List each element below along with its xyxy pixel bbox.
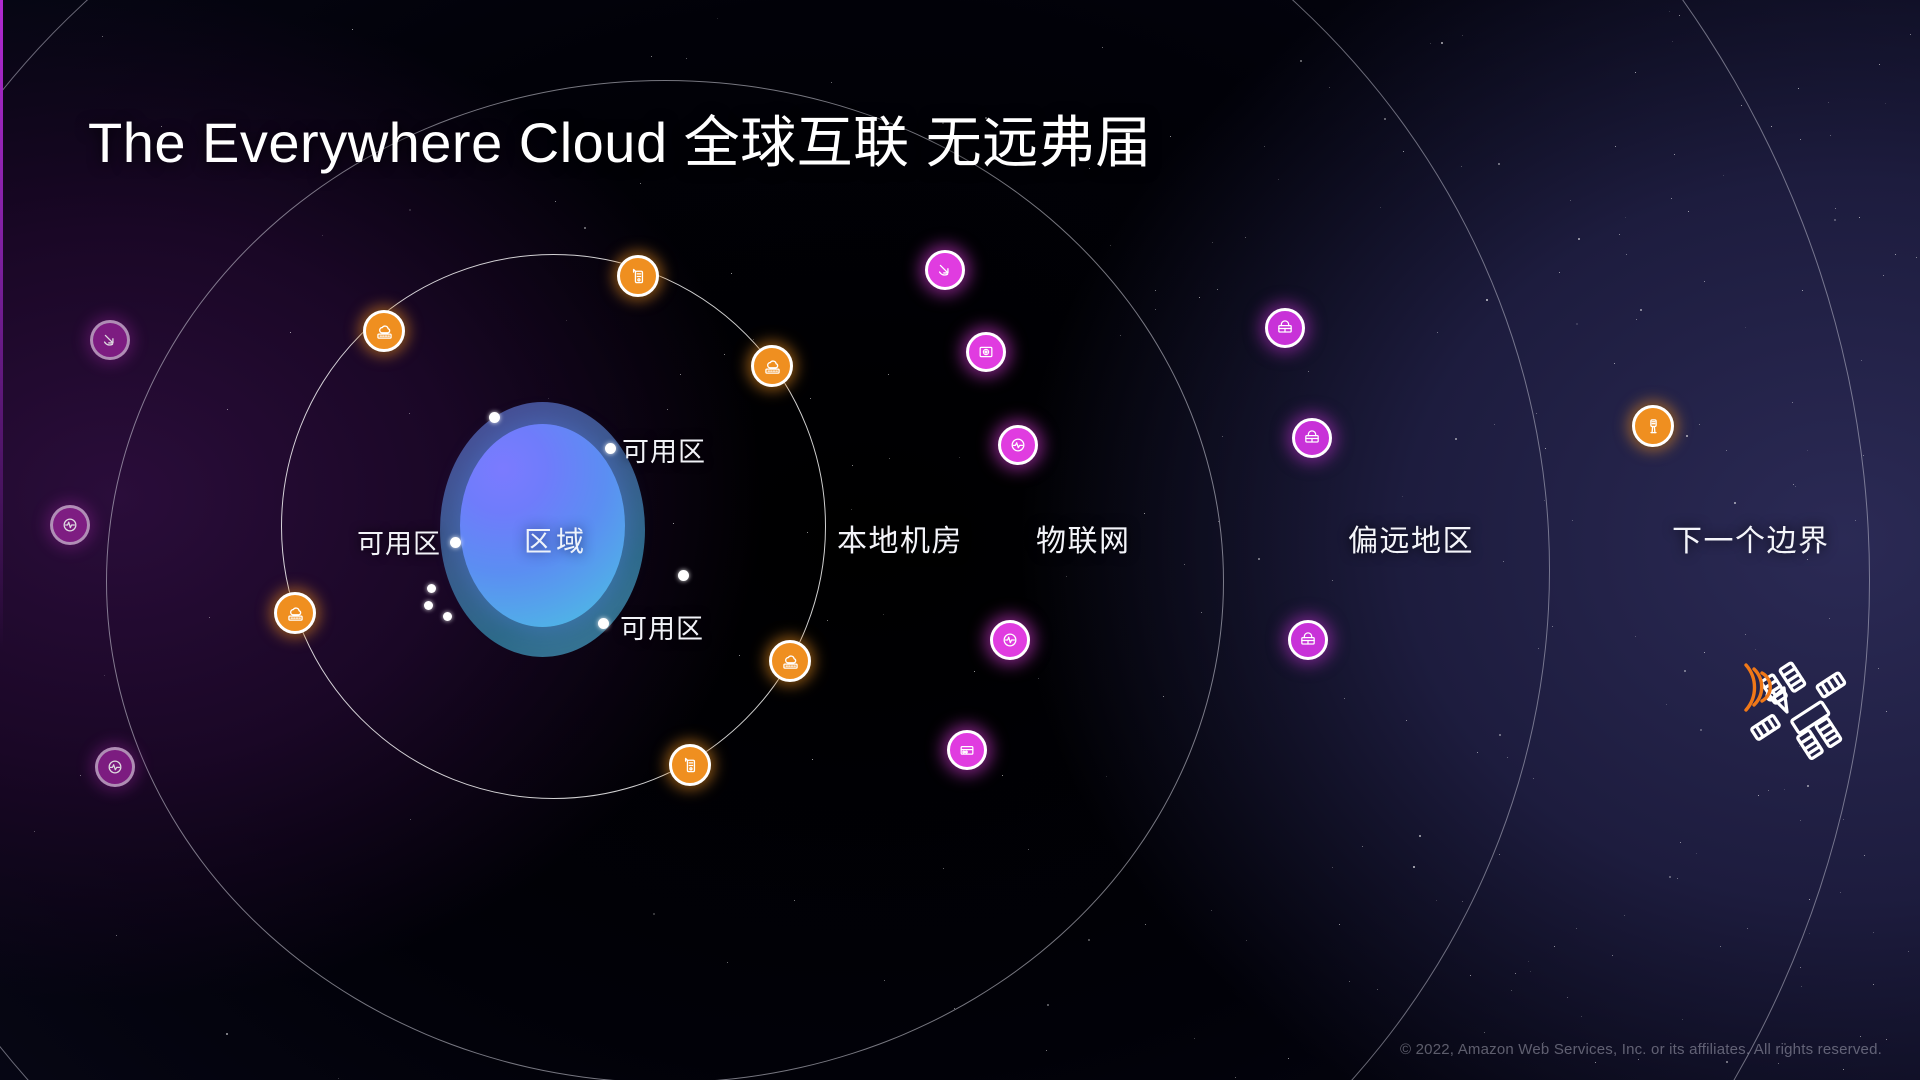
iot-camera-icon	[976, 342, 996, 362]
iot-sensor-icon	[1008, 435, 1028, 455]
orbit-node-remote[interactable]	[1265, 308, 1305, 348]
slide-canvas: 区域 可用区 可用区 可用区 本地机房 物联网 偏远地区 下一个边界	[0, 0, 1920, 1080]
orbit-node-iot[interactable]	[925, 250, 965, 290]
region-label: 区域	[524, 520, 588, 560]
orbit-node-iot[interactable]	[966, 332, 1006, 372]
iot-pulse-icon	[1000, 630, 1020, 650]
local-zone-icon	[762, 356, 783, 377]
outpost-icon	[1302, 428, 1322, 448]
iot-thing-icon	[935, 260, 955, 280]
az-dot	[489, 412, 500, 423]
outpost-icon	[1275, 318, 1295, 338]
orbit-node-iot[interactable]	[990, 620, 1030, 660]
orbit-node-local-zone[interactable]	[769, 640, 811, 682]
az-dot	[605, 443, 616, 454]
iot-thing-icon	[100, 330, 120, 350]
orbit-label-local-zones: 本地机房	[837, 516, 963, 560]
az-label-bottom: 可用区	[620, 607, 704, 646]
local-zone-icon	[285, 603, 306, 624]
az-dot	[424, 601, 433, 610]
orbit-label-iot: 物联网	[1036, 516, 1131, 560]
copyright-footer: © 2022, Amazon Web Services, Inc. or its…	[1400, 1041, 1882, 1058]
az-dot	[598, 618, 609, 629]
orbit-node-local-zone[interactable]	[363, 310, 405, 352]
orbit-node-local-zone[interactable]	[617, 255, 659, 297]
iot-sensor-icon	[105, 757, 125, 777]
local-zone-icon	[374, 321, 395, 342]
left-edge-accent	[0, 0, 3, 1080]
az-label-left: 可用区	[357, 522, 441, 561]
orbit-node-iot[interactable]	[90, 320, 130, 360]
az-label-top: 可用区	[622, 430, 706, 469]
orbit-node-iot[interactable]	[50, 505, 90, 545]
outpost-icon	[1298, 630, 1318, 650]
local-zone-icon	[780, 651, 801, 672]
az-dot	[678, 570, 689, 581]
server-rack-icon	[680, 755, 701, 776]
iot-pulse-icon	[60, 515, 80, 535]
orbit-node-remote[interactable]	[1288, 620, 1328, 660]
orbit-node-local-zone[interactable]	[669, 744, 711, 786]
orbit-label-frontier: 下一个边界	[1672, 516, 1830, 560]
orbit-node-local-zone[interactable]	[751, 345, 793, 387]
orbit-node-iot[interactable]	[95, 747, 135, 787]
server-rack-icon	[628, 266, 649, 287]
ground-station-icon	[1643, 416, 1664, 437]
az-dot	[450, 537, 461, 548]
az-dot	[443, 612, 452, 621]
orbit-node-frontier[interactable]	[1632, 405, 1674, 447]
orbit-node-iot[interactable]	[947, 730, 987, 770]
page-title: The Everywhere Cloud 全球互联 无远弗届	[88, 98, 1152, 179]
satellite-icon	[1740, 655, 1870, 775]
orbit-label-remote: 偏远地区	[1348, 516, 1474, 560]
orbit-node-local-zone[interactable]	[274, 592, 316, 634]
iot-device-icon	[957, 740, 977, 760]
orbit-node-remote[interactable]	[1292, 418, 1332, 458]
az-dot	[427, 584, 436, 593]
orbit-node-iot[interactable]	[998, 425, 1038, 465]
